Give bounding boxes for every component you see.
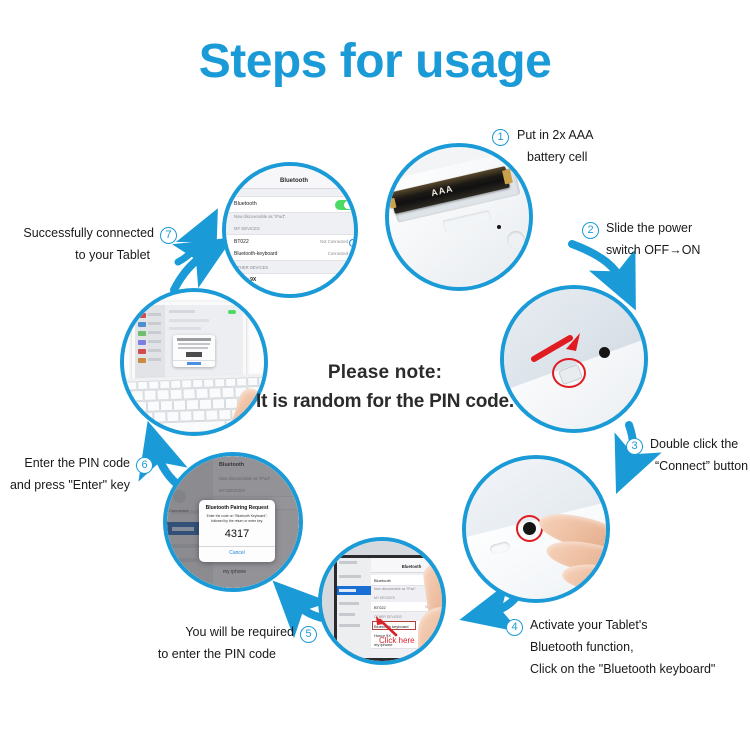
bluetooth-toggle[interactable] (335, 200, 354, 210)
other-device-phone[interactable]: yphone (234, 288, 250, 294)
click-here-annotation: Click here (379, 636, 415, 645)
red-arrow-click-here (374, 615, 400, 637)
discoverable-text: Now discoverable as "iPad". (374, 587, 416, 591)
bluetooth-row-label: Bluetooth (234, 201, 257, 207)
nav-title: Bluetooth (226, 178, 354, 184)
device-status-bt022: Not Connected (320, 239, 348, 244)
step-1-line-1: Put in 2x AAA (517, 125, 593, 147)
mini-pairing-dialog (173, 335, 215, 367)
please-note-block: Please note: It is random for the PIN co… (230, 358, 540, 417)
step-badge-2: 2 (582, 222, 599, 239)
note-line-1: Please note: (230, 358, 540, 387)
battery-label: AAA (430, 183, 454, 198)
step-badge-3: 3 (626, 438, 643, 455)
connect-button-photo (507, 231, 525, 249)
connect-button-dot (599, 347, 610, 358)
other-devices-header: OTHER DEVICES (234, 265, 268, 270)
step-2-line-1: Slide the power (606, 218, 700, 240)
step-3-line-2: “Connect” button (650, 456, 748, 478)
device-name-keyboard[interactable]: Bluetooth-keyboard (234, 251, 277, 257)
step-4-line-2: Bluetooth function, (530, 637, 715, 659)
my-devices-header: MY DEVICES (234, 226, 260, 231)
led-dot (497, 225, 501, 229)
photo-step-4-bluetooth-settings: Bluetooth Bluetooth Now discoverable as … (318, 537, 446, 665)
bluetooth-row-label: Bluetooth (374, 578, 391, 583)
step-badge-6: 6 (136, 457, 153, 474)
step-5-line-1: You will be required (120, 622, 294, 644)
step-badge-1: 1 (492, 129, 509, 146)
photo-step-3-connect-press (462, 455, 610, 603)
arrow-6-to-7 (174, 253, 207, 290)
other-device-honor[interactable]: Honor 9X (234, 277, 256, 283)
step-caption-2: Slide the power switch OFF→ON (606, 218, 700, 262)
bluetooth-settings-screen: 09:33 100% Bluetooth Bluetooth Now disco… (226, 166, 354, 294)
step-badge-5: 5 (300, 626, 317, 643)
step-caption-5: You will be required to enter the PIN co… (120, 622, 294, 666)
info-icon[interactable] (349, 239, 354, 247)
step-caption-3: Double click the “Connect” button (650, 434, 748, 478)
step-3-line-1: Double click the (650, 434, 748, 456)
photo-step-5-pairing-dialog: Connected Bluetooth Now discoverable as … (163, 452, 303, 592)
red-highlight-circle (552, 358, 586, 388)
step-caption-4: Activate your Tablet's Bluetooth functio… (530, 615, 715, 681)
info-icon[interactable] (349, 251, 354, 259)
infographic-canvas: Steps for usage AAA (0, 0, 750, 750)
pairing-pin-code: 4317 (199, 528, 275, 540)
settings-master-list (337, 558, 371, 658)
device-name[interactable]: BT022 (374, 605, 386, 610)
discoverable-text: Now discoverable as "iPad". (234, 214, 286, 219)
dialog-body: Enter the code on "Bluetooth Keyboard", … (206, 514, 268, 523)
device-name-bt022[interactable]: BT022 (234, 239, 249, 245)
step-5-line-2: to enter the PIN code (120, 644, 294, 666)
step-7-line-1: Successfully connected (4, 223, 154, 245)
step-caption-7: Successfully connected to your Tablet (4, 223, 154, 267)
bluetooth-pairing-dialog: Bluetooth Pairing Request Enter the code… (199, 500, 275, 562)
photo-step-7-connected: 09:33 100% Bluetooth Bluetooth Now disco… (222, 162, 358, 298)
device-status-keyboard: Connected (328, 251, 348, 256)
dialog-cancel-button[interactable]: Cancel (199, 550, 275, 556)
photo-step-1-battery: AAA (385, 143, 533, 291)
note-line-2: It is random for the PIN code. (230, 387, 540, 416)
step-1-line-2: battery cell (517, 147, 593, 169)
step-caption-6: Enter the PIN code and press "Enter" key (0, 453, 130, 497)
step-7-line-2: to your Tablet (4, 245, 154, 267)
step-6-line-1: Enter the PIN code (0, 453, 130, 475)
page-title: Steps for usage (0, 38, 750, 86)
step-4-line-3: Click on the "Bluetooth keyboard" (530, 659, 715, 681)
tablet (132, 302, 246, 386)
my-devices-header: MY DEVICES (374, 596, 395, 600)
step-6-line-2: and press "Enter" key (0, 475, 130, 497)
step-badge-7: 7 (160, 227, 177, 244)
arrow-to-step-7-label (178, 232, 206, 262)
step-caption-1: Put in 2x AAA battery cell (517, 125, 593, 169)
step-badge-4: 4 (506, 619, 523, 636)
step-4-line-1: Activate your Tablet's (530, 615, 715, 637)
step-2-line-2: switch OFF→ON (606, 240, 700, 262)
dialog-title: Bluetooth Pairing Request (199, 505, 275, 511)
